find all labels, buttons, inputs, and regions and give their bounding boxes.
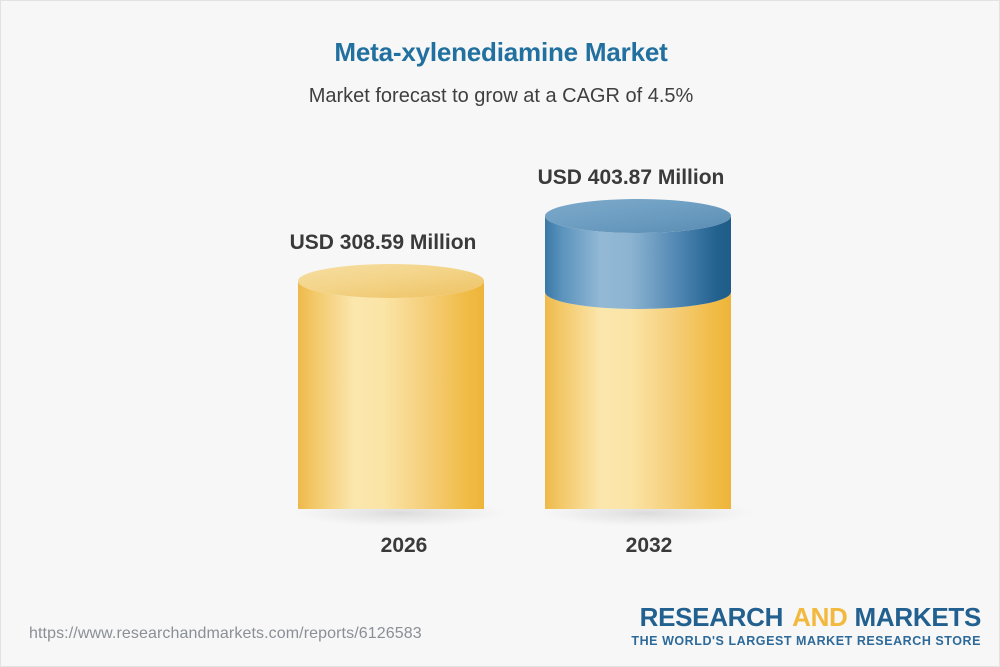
infographic-canvas: Meta-xylenediamine Market Market forecas… [0, 0, 1000, 667]
brand-logo[interactable]: RESEARCHANDMARKETS THE WORLD'S LARGEST M… [631, 604, 981, 648]
report-url-link[interactable]: https://www.researchandmarkets.com/repor… [29, 625, 422, 643]
cylinder-2032 [523, 1, 753, 541]
cylinder-segment-base-2032 [545, 292, 731, 509]
cylinder-body-2026 [298, 281, 484, 509]
cylinder-top-2032 [545, 199, 731, 233]
logo-word-and: AND [792, 602, 847, 632]
logo-word-research: RESEARCH [640, 602, 784, 632]
logo-tagline: THE WORLD'S LARGEST MARKET RESEARCH STOR… [631, 635, 981, 648]
cylinder-2026 [276, 1, 506, 541]
logo-wordmark: RESEARCHANDMARKETS [631, 604, 981, 630]
cylinder-top-2026 [298, 264, 484, 298]
chart-plot-area: USD 308.59 Million [1, 1, 1000, 601]
logo-word-markets: MARKETS [855, 602, 981, 632]
category-label-2032: 2032 [534, 534, 764, 558]
category-label-2026: 2026 [289, 534, 519, 558]
